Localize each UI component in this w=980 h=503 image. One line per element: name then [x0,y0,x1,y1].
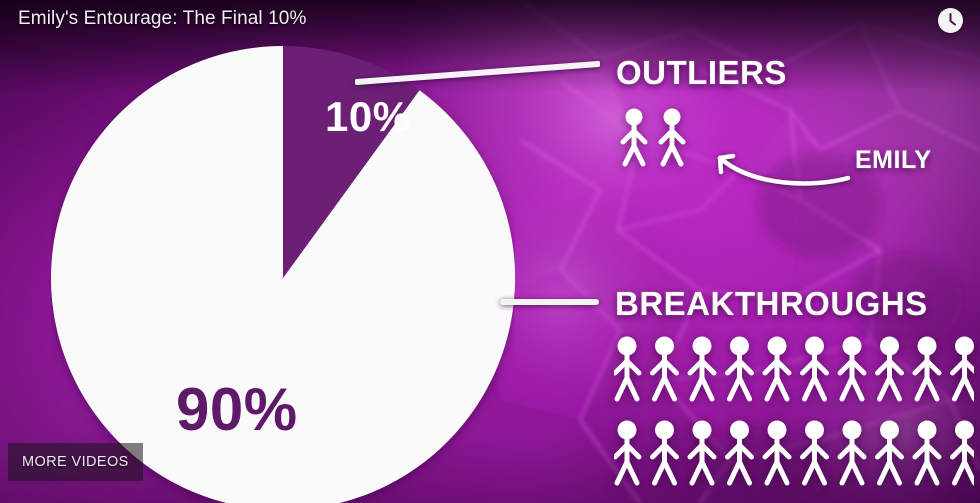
pie-label-outliers: 10% [325,93,411,140]
breakthrough-figure-row [614,418,974,488]
pie-chart: 10% 90% [51,46,515,503]
pie-label-breakthroughs: 90% [176,376,298,443]
emily-arrow-icon [712,148,852,186]
breakthrough-figure-row [614,334,974,404]
breakthroughs-label: BREAKTHROUGHS [615,285,928,323]
clock-icon[interactable] [938,8,963,33]
outliers-label: OUTLIERS [616,54,787,92]
callout-line-breakthroughs [500,292,600,312]
more-videos-button[interactable]: MORE VIDEOS [8,443,143,481]
video-player[interactable]: 10% 90% OUTLIERS [0,0,980,503]
callout-line-outliers [355,52,600,86]
emily-label: EMILY [855,146,932,175]
outlier-figure-group [614,106,694,168]
video-title: Emily's Entourage: The Final 10% [18,8,306,30]
